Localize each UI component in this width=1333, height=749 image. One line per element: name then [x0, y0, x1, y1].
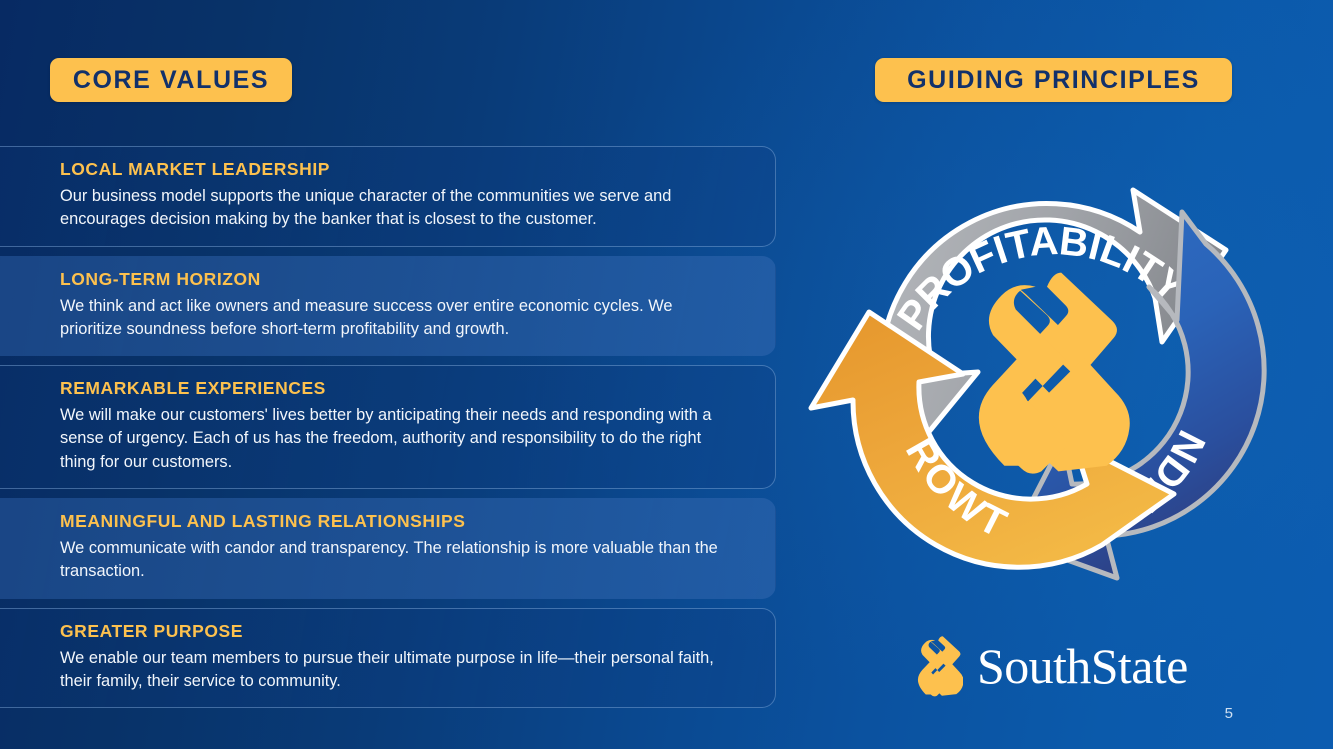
value-title: LOCAL MARKET LEADERSHIP — [60, 159, 735, 180]
value-title: MEANINGFUL AND LASTING RELATIONSHIPS — [60, 511, 735, 532]
value-description: Our business model supports the unique c… — [60, 185, 720, 232]
southstate-s-mark-icon — [979, 273, 1130, 474]
value-card-remarkable-experiences: REMARKABLE EXPERIENCES We will make our … — [0, 365, 776, 489]
page-number: 5 — [1225, 705, 1233, 722]
guiding-principles-cycle-diagram: PROFITABILITY SOUNDNESS GROWTH — [806, 132, 1288, 602]
core-values-header: CORE VALUES — [50, 58, 292, 102]
value-card-local-market-leadership: LOCAL MARKET LEADERSHIP Our business mod… — [0, 146, 776, 247]
value-card-greater-purpose: GREATER PURPOSE We enable our team membe… — [0, 608, 776, 709]
value-card-meaningful-and-lasting-relationships: MEANINGFUL AND LASTING RELATIONSHIPS We … — [0, 498, 776, 599]
guiding-principles-header-label: GUIDING PRINCIPLES — [907, 68, 1200, 93]
guiding-principles-header: GUIDING PRINCIPLES — [875, 58, 1232, 102]
cycle-segment-growth: GROWTH — [806, 132, 1174, 567]
value-description: We will make our customers' lives better… — [60, 404, 720, 474]
core-values-header-label: CORE VALUES — [73, 68, 269, 93]
southstate-logo: SouthState — [915, 635, 1188, 697]
slide-root: CORE VALUES GUIDING PRINCIPLES LOCAL MAR… — [0, 0, 1333, 749]
value-title: GREATER PURPOSE — [60, 621, 735, 642]
southstate-wordmark: SouthState — [977, 641, 1188, 691]
value-description: We communicate with candor and transpare… — [60, 537, 720, 584]
value-title: REMARKABLE EXPERIENCES — [60, 378, 735, 399]
southstate-s-mark-icon — [915, 635, 963, 697]
value-description: We think and act like owners and measure… — [60, 295, 720, 342]
value-description: We enable our team members to pursue the… — [60, 647, 720, 694]
core-values-list: LOCAL MARKET LEADERSHIP Our business mod… — [0, 146, 776, 717]
value-card-long-term-horizon: LONG-TERM HORIZON We think and act like … — [0, 256, 776, 357]
value-title: LONG-TERM HORIZON — [60, 269, 735, 290]
